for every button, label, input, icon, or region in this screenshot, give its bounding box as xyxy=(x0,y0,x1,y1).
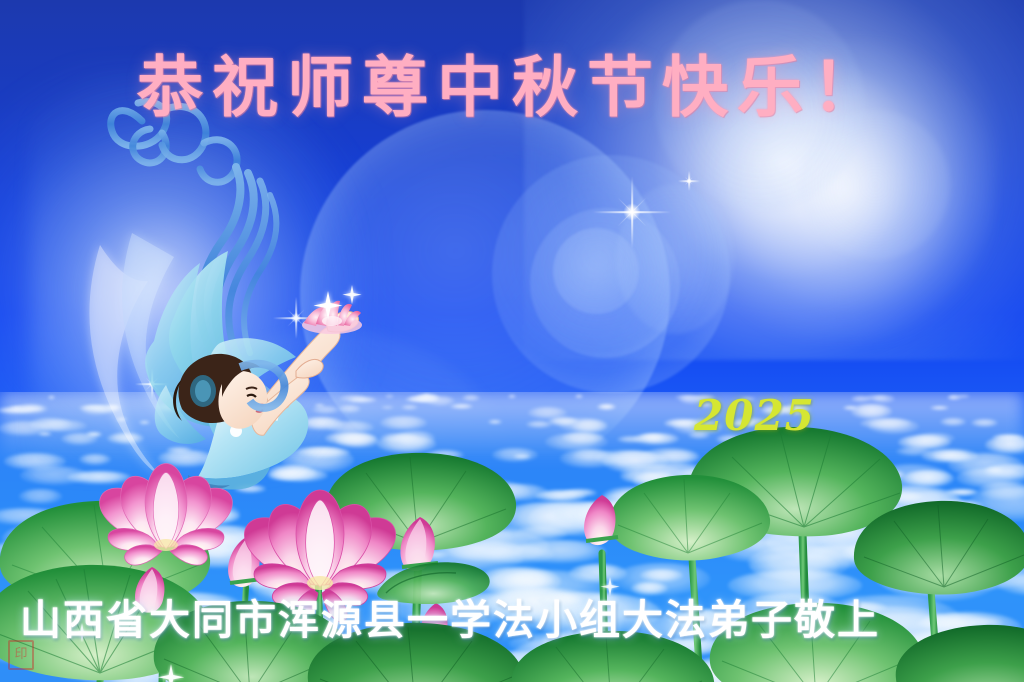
celestial-fairy-figure xyxy=(70,95,370,475)
greeting-card: 恭祝师尊中秋节快乐！ 2025 山西省大同市浑源县一学法小组大法弟子敬上 印 xyxy=(0,0,1024,682)
signature-line: 山西省大同市浑源县一学法小组大法弟子敬上 xyxy=(20,586,880,646)
red-seal-stamp: 印 xyxy=(8,640,34,670)
page-title: 恭祝师尊中秋节快乐！ xyxy=(0,34,1024,130)
year-label: 2025 xyxy=(694,391,815,440)
